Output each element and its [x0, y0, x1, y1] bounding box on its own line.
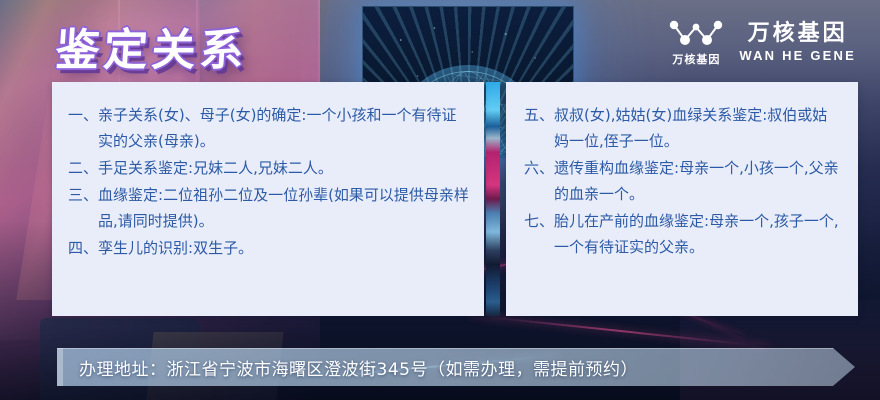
- list-item-number: 二、: [68, 155, 98, 181]
- list-item-number: 四、: [68, 235, 98, 261]
- logo-mark-label: 万核基因: [672, 51, 720, 67]
- list-item: 六、 遗传重构血缘鉴定:母亲一个,小孩一个,父亲的血亲一个。: [524, 155, 842, 207]
- banner-root: 鉴定关系: [0, 0, 880, 400]
- list-item-number: 七、: [524, 208, 554, 234]
- info-panel-right: 五、 叔叔(女),姑姑(女)血绿关系鉴定:叔伯或姑妈一位,侄子一位。 六、 遗传…: [506, 82, 858, 316]
- list-item: 二、 手足关系鉴定:兄妹二人,兄妹二人。: [68, 155, 470, 181]
- list-item: 三、 血缘鉴定:二位祖孙二位及一位孙辈(如果可以提供母亲样品,请同时提供)。: [68, 182, 470, 234]
- list-item: 五、 叔叔(女),姑姑(女)血绿关系鉴定:叔伯或姑妈一位,侄子一位。: [524, 102, 842, 154]
- list-item-text: 胎儿在产前的血缘鉴定:母亲一个,孩子一个,一个有待证实的父亲。: [554, 208, 842, 260]
- background-photo-strip: [486, 82, 500, 316]
- address-bar-left-accent: [57, 348, 63, 386]
- logo-name-en: WAN HE GENE: [739, 48, 856, 63]
- logo-mark: 万核基因: [667, 18, 725, 67]
- list-item-text: 亲子关系(女)、母子(女)的确定:一个小孩和一个有待证实的父亲(母亲)。: [98, 102, 470, 154]
- logo-wordmark: 万核基因 WAN HE GENE: [739, 22, 856, 62]
- page-title: 鉴定关系: [54, 14, 250, 78]
- list-item: 七、 胎儿在产前的血缘鉴定:母亲一个,孩子一个,一个有待证实的父亲。: [524, 208, 842, 260]
- list-item-text: 孪生儿的识别:双生子。: [98, 235, 470, 261]
- list-item-text: 叔叔(女),姑姑(女)血绿关系鉴定:叔伯或姑妈一位,侄子一位。: [554, 102, 842, 154]
- list-item-number: 五、: [524, 102, 554, 128]
- list-item-text: 遗传重构血缘鉴定:母亲一个,小孩一个,父亲的血亲一个。: [554, 155, 842, 207]
- list-item: 一、 亲子关系(女)、母子(女)的确定:一个小孩和一个有待证实的父亲(母亲)。: [68, 102, 470, 154]
- brand-logo: 万核基因 万核基因 WAN HE GENE: [667, 18, 856, 67]
- address-text: 办理地址：浙江省宁波市海曙区澄波街345号（如需办理，需提前预约）: [79, 355, 638, 380]
- list-item-number: 一、: [68, 102, 98, 128]
- list-item-text: 手足关系鉴定:兄妹二人,兄妹二人。: [98, 155, 470, 181]
- address-bar: 办理地址：浙江省宁波市海曙区澄波街345号（如需办理，需提前预约）: [57, 348, 855, 386]
- info-panel-left: 一、 亲子关系(女)、母子(女)的确定:一个小孩和一个有待证实的父亲(母亲)。 …: [52, 82, 484, 316]
- list-item-number: 六、: [524, 155, 554, 181]
- molecule-network-icon: [667, 18, 725, 48]
- list-item: 四、 孪生儿的识别:双生子。: [68, 235, 470, 261]
- logo-name-cn: 万核基因: [748, 22, 848, 45]
- list-item-text: 血缘鉴定:二位祖孙二位及一位孙辈(如果可以提供母亲样品,请同时提供)。: [98, 182, 470, 234]
- list-item-number: 三、: [68, 182, 98, 208]
